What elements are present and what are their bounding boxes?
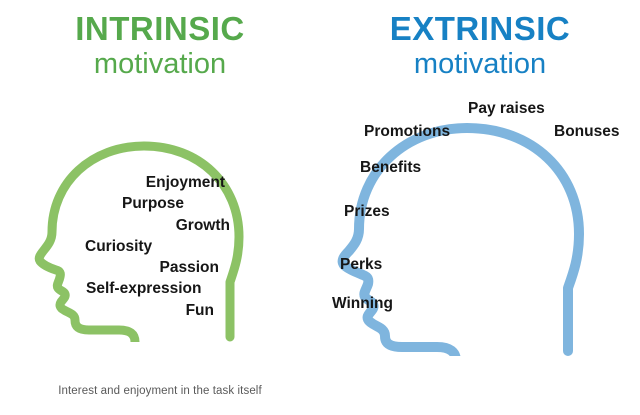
intrinsic-title-sub: motivation: [0, 50, 320, 79]
intrinsic-caption: Interest and enjoyment in the task itsel…: [0, 385, 320, 397]
extrinsic-word-winning: Winning: [332, 295, 393, 313]
extrinsic-title-sub: motivation: [320, 50, 640, 79]
extrinsic-title: EXTRINSIC motivation: [320, 12, 640, 79]
intrinsic-word: Purpose: [54, 193, 230, 214]
intrinsic-word: Growth: [54, 215, 230, 236]
extrinsic-word-pay-raises: Pay raises: [468, 100, 545, 118]
intrinsic-panel: INTRINSIC motivation Enjoyment Purpose G…: [0, 0, 320, 415]
extrinsic-word-benefits: Benefits: [360, 159, 421, 177]
extrinsic-title-main: EXTRINSIC: [320, 12, 640, 45]
extrinsic-word-perks: Perks: [340, 256, 382, 274]
intrinsic-word: Curiosity: [54, 236, 230, 257]
extrinsic-word-prizes: Prizes: [344, 203, 390, 221]
intrinsic-word: Enjoyment: [54, 172, 230, 193]
intrinsic-word: Fun: [54, 300, 230, 321]
intrinsic-extrinsic-motivation-infographic: INTRINSIC motivation Enjoyment Purpose G…: [0, 0, 640, 415]
intrinsic-title: INTRINSIC motivation: [0, 12, 320, 79]
extrinsic-word-promotions: Promotions: [364, 123, 450, 141]
intrinsic-word-list: Enjoyment Purpose Growth Curiosity Passi…: [54, 172, 230, 321]
intrinsic-title-main: INTRINSIC: [0, 12, 320, 45]
intrinsic-word: Passion: [54, 257, 230, 278]
head-profile-outline-icon: [330, 106, 590, 356]
intrinsic-word: Self-expression: [54, 278, 230, 299]
extrinsic-word-bonuses: Bonuses: [554, 123, 619, 141]
